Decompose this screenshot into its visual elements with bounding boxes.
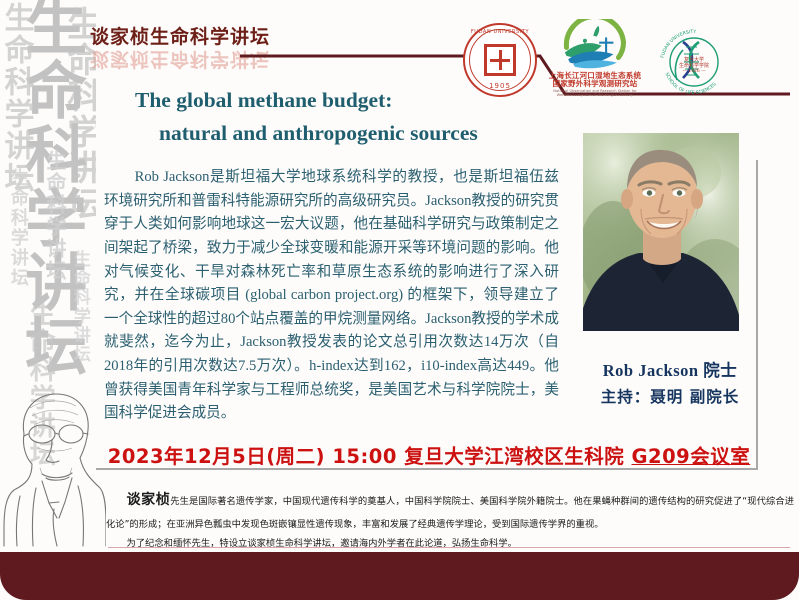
watermark-text: 生命科学讲坛 <box>8 168 27 288</box>
forum-description-para2: 为了纪念和缅怀先生，特设立谈家桢生命科学讲坛，邀请海内外学者在此论道，弘扬生命科… <box>106 534 794 553</box>
event-main-text: 2023年12月5日(周二) 15:00 复旦大学江湾校区生科院 <box>108 445 632 468</box>
forum-title-block: 谈家桢生命科学讲坛 谈家桢生命科学讲坛 <box>90 28 270 68</box>
speaker-biography: Rob Jackson是斯坦福大学地球系统科学的教授，也是斯坦福伍兹环境研究所和… <box>104 166 559 426</box>
watermark-text: 生命科学讲坛 <box>70 250 88 364</box>
tan-jiazhen-sketch-portrait <box>2 378 106 548</box>
watermark-text: 生命科学讲坛 <box>0 2 32 194</box>
forum-description-para1: 谈家桢先生是国际著名遗传学家，中国现代遗传科学的奠基人，中国科学院院士、美国科学… <box>106 486 794 534</box>
talk-title-line2: natural and anthropogenic sources <box>159 117 575 150</box>
forum-title-reflection: 谈家桢生命科学讲坛 <box>90 49 270 68</box>
biography-text: Rob Jackson是斯坦福大学地球系统科学的教授，也是斯坦福伍兹环境研究所和… <box>104 169 559 421</box>
event-datetime-venue: 2023年12月5日(周二) 15:00 复旦大学江湾校区生科院 G209会议室 <box>104 440 754 469</box>
speaker-photo <box>583 133 739 331</box>
school-of-life-sciences-logo: FUDAN UNIVERSITY SCHOOL OF LIFE SCIENCES… <box>653 20 735 100</box>
event-room: G209会议室 <box>632 445 751 468</box>
forum-description: 谈家桢先生是国际著名遗传学家，中国现代遗传科学的奠基人，中国科学院院士、美国科学… <box>106 486 794 553</box>
forum-title: 谈家桢生命科学讲坛 <box>90 28 270 47</box>
forum-description-text1: 先生是国际著名遗传学家，中国现代遗传科学的奠基人，中国科学院院士、美国科学院外籍… <box>106 496 794 530</box>
seal-top-text: FUDAN UNIVERSITY <box>465 29 535 35</box>
seal-core-glyph <box>484 44 516 76</box>
poster-root: 生命科学讲坛 生命科学讲坛 生命科学讲坛 生命科学讲坛 生命科学讲坛 生命科学讲… <box>0 0 799 600</box>
sls-year: — 1926 — <box>653 69 735 74</box>
speaker-name: Rob Jackson 院士 <box>570 357 770 381</box>
host-line: 主持：聂明 副院长 <box>570 385 770 407</box>
bottom-hairline-divider <box>108 547 790 549</box>
bottom-maroon-bar <box>0 552 799 600</box>
sls-cn-line2: 生命科学学院 <box>653 62 735 69</box>
talk-title-line1: The global methane budget: <box>135 84 575 117</box>
tan-jiazhen-name: 谈家桢 <box>126 492 170 508</box>
talk-title: The global methane budget: natural and a… <box>135 84 575 151</box>
watermark-text: 生命科学讲坛 <box>44 150 65 282</box>
